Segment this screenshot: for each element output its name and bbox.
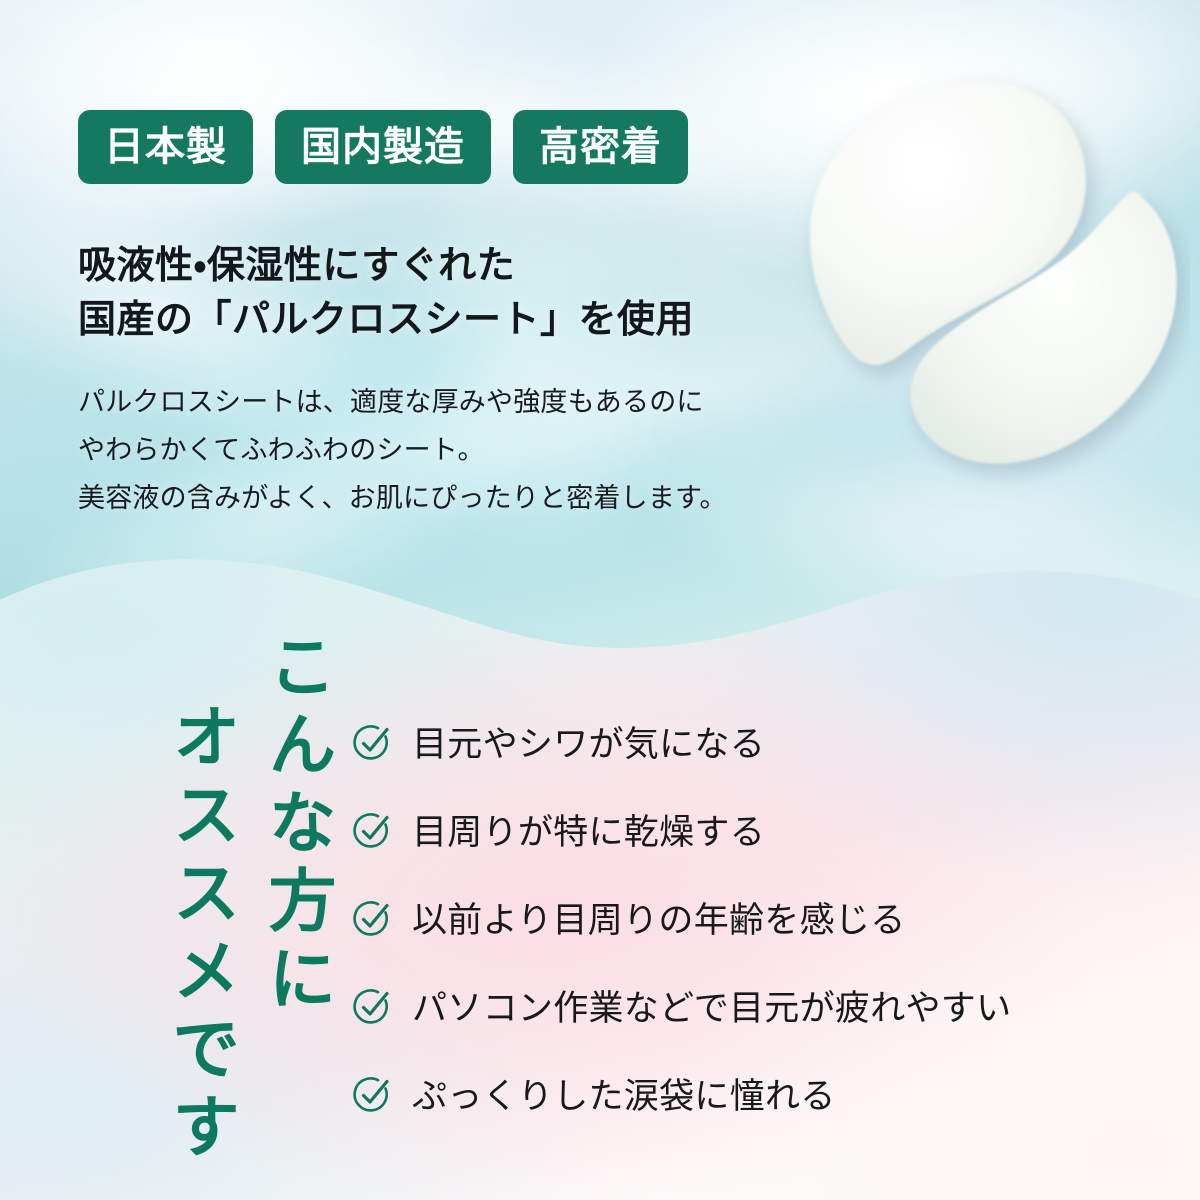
badge-made-in-japan: 日本製 [78, 110, 253, 184]
feature-badge-row: 日本製 国内製造 高密着 [78, 110, 688, 184]
body-line-1: パルクロスシートは、適度な厚みや強度もあるのに [78, 378, 798, 426]
badge-high-adhesion: 高密着 [513, 110, 688, 184]
list-item: パソコン作業などで目元が疲れやすい [352, 964, 1182, 1052]
recommend-checklist: 目元やシワが気になる 目周りが特に乾燥する 以前より目周りの年齢を感じる [352, 700, 1182, 1140]
list-item: 目周りが特に乾燥する [352, 788, 1182, 876]
check-circle-icon [352, 899, 392, 939]
list-item-label: ぷっくりした涙袋に憧れる [412, 1079, 836, 1114]
sheet-headline: 吸液性・保湿性にすぐれた 国産の「パルクロスシート」を使用 [78, 240, 798, 348]
body-line-3: 美容液の含みがよく、お肌にぴったりと密着します。 [78, 474, 798, 522]
list-item-label: 目周りが特に乾燥する [412, 815, 765, 850]
sheet-body-copy: パルクロスシートは、適度な厚みや強度もあるのに やわらかくてふわふわのシート。 … [78, 378, 798, 522]
headline-line-2: 国産の「パルクロスシート」を使用 [78, 294, 798, 348]
list-item-label: パソコン作業などで目元が疲れやすい [412, 991, 1011, 1026]
check-circle-icon [352, 723, 392, 763]
product-feature-banner: 日本製 国内製造 高密着 吸液性・保湿性にすぐれた 国産の「パルクロスシート」を… [0, 0, 1200, 1200]
list-item-label: 目元やシワが気になる [412, 727, 765, 762]
check-circle-icon [352, 1075, 392, 1115]
list-item-label: 以前より目周りの年齢を感じる [412, 903, 906, 938]
sheet-description-block: 吸液性・保湿性にすぐれた 国産の「パルクロスシート」を使用 パルクロスシートは、… [78, 240, 798, 522]
list-item: 目元やシワが気になる [352, 700, 1182, 788]
list-item: 以前より目周りの年齢を感じる [352, 876, 1182, 964]
check-circle-icon [352, 811, 392, 851]
list-item: ぷっくりした涙袋に憧れる [352, 1052, 1182, 1140]
headline-line-1: 吸液性・保湿性にすぐれた [78, 240, 798, 294]
vertical-headline-right: こんな方に [262, 631, 330, 1021]
check-circle-icon [352, 987, 392, 1027]
vertical-headline-left: オススメです [166, 701, 234, 1169]
body-line-2: やわらかくてふわふわのシート。 [78, 426, 798, 474]
recommend-vertical-headline: こんな方に オススメです [100, 615, 330, 1175]
badge-domestic-manufacture: 国内製造 [275, 110, 491, 184]
